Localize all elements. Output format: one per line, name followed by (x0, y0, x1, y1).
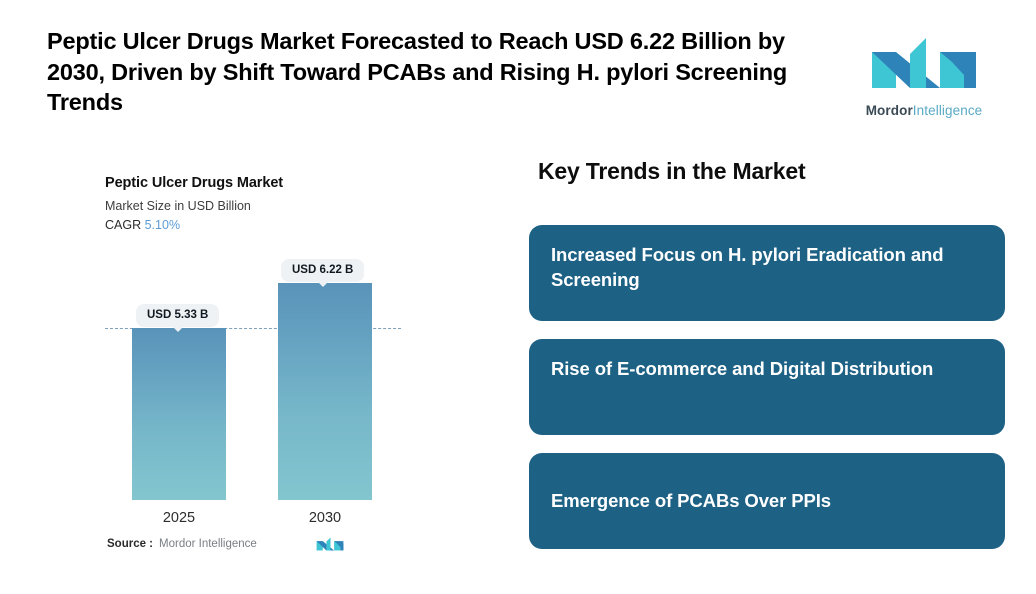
chart-panel: Peptic Ulcer Drugs Market Market Size in… (0, 128, 500, 594)
value-badge-2025: USD 5.33 B (136, 304, 219, 327)
trends-panel: Key Trends in the Market Increased Focus… (500, 128, 1036, 594)
trend-card-1-text: Increased Focus on H. pylori Eradication… (551, 243, 983, 293)
value-badge-2030: USD 6.22 B (281, 259, 364, 282)
source-value: Mordor Intelligence (159, 538, 257, 550)
mordor-intelligence-mark-icon (860, 32, 988, 99)
trend-card-1[interactable]: Increased Focus on H. pylori Eradication… (529, 225, 1005, 321)
bar-chart-plot: USD 5.33 B USD 6.22 B 2025 2030 (0, 128, 500, 594)
trend-card-list: Increased Focus on H. pylori Eradication… (529, 225, 1005, 567)
trend-card-2[interactable]: Rise of E-commerce and Digital Distribut… (529, 339, 1005, 435)
trend-card-3[interactable]: Emergence of PCABs Over PPIs (529, 453, 1005, 549)
brand-wordmark: MordorIntelligence (860, 103, 988, 118)
brand-logo: MordorIntelligence (860, 32, 988, 118)
source-mordor-mark-icon (315, 536, 345, 552)
trend-card-3-text: Emergence of PCABs Over PPIs (551, 489, 831, 514)
trends-heading: Key Trends in the Market (538, 158, 805, 185)
brand-word-two: Intelligence (913, 103, 983, 118)
trend-card-2-text: Rise of E-commerce and Digital Distribut… (551, 357, 933, 382)
brand-word-one: Mordor (866, 103, 913, 118)
bar-2030 (278, 283, 372, 500)
page-header: Peptic Ulcer Drugs Market Forecasted to … (0, 0, 1036, 128)
page-title: Peptic Ulcer Drugs Market Forecasted to … (47, 26, 847, 118)
chart-source: Source : Mordor Intelligence (107, 536, 397, 552)
source-label: Source : (107, 538, 153, 550)
bar-2025 (132, 328, 226, 500)
x-axis-label-2025: 2025 (132, 510, 226, 526)
x-axis-label-2030: 2030 (278, 510, 372, 526)
